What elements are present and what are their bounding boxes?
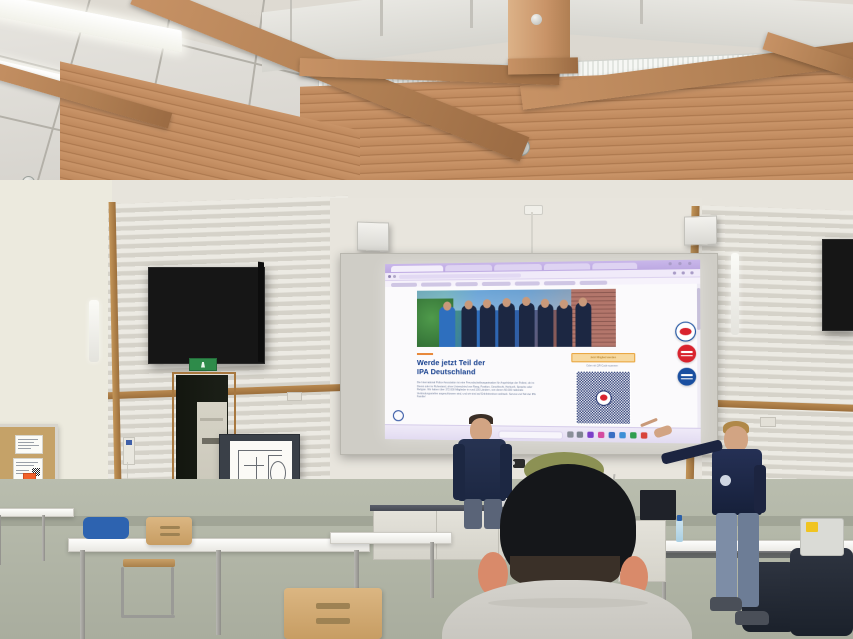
projection-screen[interactable]: Werde jetzt Teil der IPA Deutschland Die…	[340, 253, 718, 455]
page-scrollbar[interactable]	[697, 284, 701, 429]
chair-left[interactable]	[119, 549, 181, 633]
ceiling-speaker-icon	[531, 14, 542, 25]
webpage-content: Werde jetzt Teil der IPA Deutschland Die…	[385, 284, 701, 429]
hero-officer	[498, 303, 515, 347]
cta-button[interactable]: Jetzt Mitglied werden	[571, 353, 635, 362]
wall-phone[interactable]	[123, 437, 135, 465]
back-icon[interactable]	[388, 275, 391, 278]
projector-cable	[531, 212, 533, 254]
hero-officer-head	[541, 299, 549, 308]
projected-browser-window[interactable]: Werde jetzt Teil der IPA Deutschland Die…	[385, 260, 701, 444]
exit-sign	[189, 358, 217, 371]
ceiling-divider	[470, 0, 473, 28]
hero-officer	[557, 305, 573, 347]
presenter-right-shoe	[710, 597, 742, 611]
page-headline: Werde jetzt Teil der IPA Deutschland	[417, 358, 571, 377]
window-close-icon[interactable]	[688, 262, 691, 265]
qr-code[interactable]	[576, 371, 632, 425]
browser-tab[interactable]	[494, 263, 542, 270]
wall-speaker-left	[357, 221, 389, 251]
widgets-icon[interactable]	[577, 432, 583, 438]
presenter-right-shoe	[735, 611, 769, 625]
hero-officer	[519, 303, 535, 347]
chair-foreground[interactable]	[284, 588, 382, 639]
audience-hoodie	[442, 580, 692, 639]
teams-icon[interactable]	[619, 432, 625, 438]
task-view-icon[interactable]	[567, 431, 573, 437]
wall-speaker-right	[684, 215, 717, 245]
wall-display-left[interactable]	[148, 267, 265, 364]
hero-officer	[538, 304, 554, 347]
hero-officer-head	[465, 300, 473, 309]
running-man-icon	[201, 362, 205, 368]
hoodie-collar	[488, 598, 648, 608]
hero-officer-head	[443, 302, 451, 311]
hero-officer-head	[560, 300, 568, 309]
blue-bag[interactable]	[83, 517, 129, 539]
corridor-shelf	[200, 418, 223, 421]
profile-icon[interactable]	[682, 271, 685, 274]
ceiling-divider	[640, 0, 643, 24]
presenter-right-leg	[716, 513, 737, 601]
mail-icon[interactable]	[598, 432, 604, 438]
audience-foreground	[452, 452, 682, 639]
explorer-icon[interactable]	[609, 432, 615, 438]
qr-center-ipa-logo	[596, 390, 612, 406]
browser-tab-active[interactable]	[391, 265, 443, 272]
ceiling-divider	[290, 0, 292, 44]
extensions-icon[interactable]	[673, 271, 676, 274]
hero-group-photo	[417, 289, 616, 347]
hero-officer	[480, 304, 495, 347]
wall-display-left-edge	[258, 262, 264, 363]
classroom-presentation-scene: Werde jetzt Teil der IPA Deutschland Die…	[0, 0, 853, 639]
ceiling-wood-post	[508, 0, 570, 60]
presenter-right	[702, 421, 778, 639]
forward-icon[interactable]	[393, 275, 396, 278]
yellow-sticker	[806, 522, 818, 532]
hero-officer-head	[502, 298, 510, 307]
chrome-icon[interactable]	[630, 432, 636, 438]
ceiling-divider	[380, 0, 383, 36]
ipa-logo-badge[interactable]	[675, 322, 696, 342]
window-maximize-icon[interactable]	[678, 262, 681, 265]
wall-uplight	[89, 300, 99, 362]
presenter-right-leg	[738, 513, 759, 607]
backpack-2[interactable]	[790, 548, 853, 636]
qr-caption: Oder mit QR-Code scannen	[571, 364, 633, 367]
wall-socket[interactable]	[287, 392, 302, 401]
browser-tab[interactable]	[544, 263, 590, 270]
accessibility-widget-icon[interactable]	[393, 410, 404, 421]
wall-display-right[interactable]	[822, 239, 853, 331]
side-table-left[interactable]	[0, 508, 72, 568]
wall-uplight	[731, 253, 739, 335]
page-body-text: Die International Police Association ist…	[417, 381, 538, 400]
browser-menu-icon[interactable]	[690, 271, 693, 274]
hero-officer	[439, 307, 455, 347]
heading-accent-bar	[417, 353, 433, 355]
hero-officer-head	[483, 299, 491, 308]
hero-officer-head	[579, 297, 587, 306]
edge-icon[interactable]	[587, 432, 593, 438]
presenter-right-arm-down	[754, 465, 766, 513]
notice-paper	[15, 435, 43, 454]
red-action-badge[interactable]	[677, 345, 696, 363]
hero-officer	[575, 302, 591, 346]
roof-beam-center	[508, 57, 578, 74]
office-icon[interactable]	[641, 432, 647, 438]
hero-officer	[461, 305, 476, 347]
blue-action-badge[interactable]	[678, 368, 697, 386]
hero-officer-head	[522, 297, 530, 306]
front-table-left-2[interactable]	[330, 532, 450, 592]
scrollbar-thumb[interactable]	[697, 288, 700, 330]
address-bar[interactable]	[399, 273, 521, 279]
presenter-right-polo-logo	[720, 475, 731, 486]
window-minimize-icon[interactable]	[669, 262, 672, 265]
projector-mount	[524, 205, 543, 215]
browser-tab[interactable]	[445, 264, 492, 271]
browser-tab[interactable]	[592, 262, 637, 269]
